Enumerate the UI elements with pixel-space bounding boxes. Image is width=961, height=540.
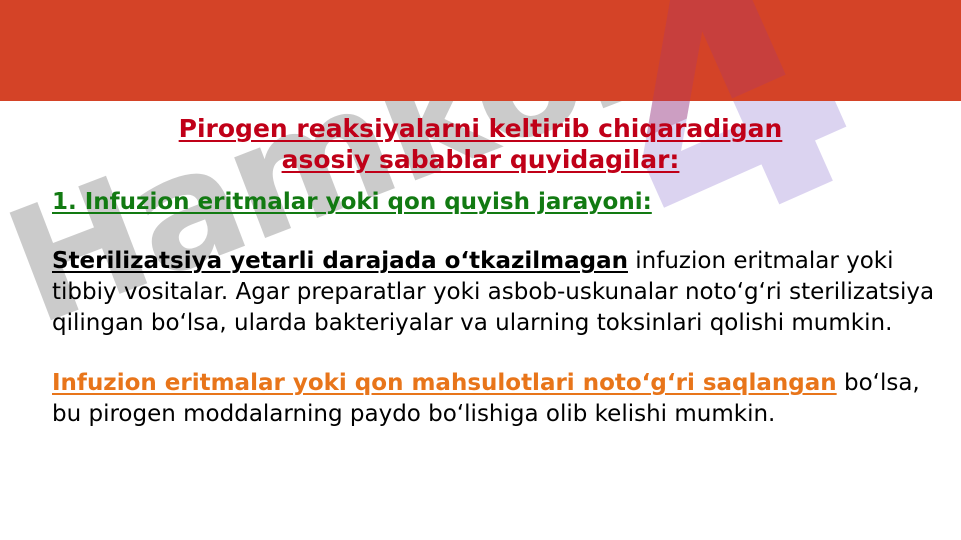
page-title-line-1: Pirogen reaksiyalarni keltirib chiqaradi… <box>179 114 783 143</box>
header-band <box>0 0 961 101</box>
section-heading-1: 1. Infuzion eritmalar yoki qon quyish ja… <box>52 187 652 217</box>
presentation-slide: 4 Hamkor 4 Pirogen reaksiyalarni keltiri… <box>0 0 961 540</box>
page-title-line-2: asosiy sabablar quyidagilar: <box>282 145 680 174</box>
paragraph-2: Infuzion eritmalar yoki qon mahsulotlari… <box>52 368 941 430</box>
slide-content: Pirogen reaksiyalarni keltirib chiqaradi… <box>0 101 961 430</box>
slide-body: 1. Infuzion eritmalar yoki qon quyish ja… <box>0 175 961 430</box>
section-heading-1-wrapper: 1. Infuzion eritmalar yoki qon quyish ja… <box>52 187 941 217</box>
page-title: Pirogen reaksiyalarni keltirib chiqaradi… <box>0 101 961 175</box>
paragraph-2-lead: Infuzion eritmalar yoki qon mahsulotlari… <box>52 370 837 396</box>
paragraph-1-lead: Sterilizatsiya yetarli darajada o‘tkazil… <box>52 248 628 274</box>
paragraph-1: Sterilizatsiya yetarli darajada o‘tkazil… <box>52 246 941 339</box>
